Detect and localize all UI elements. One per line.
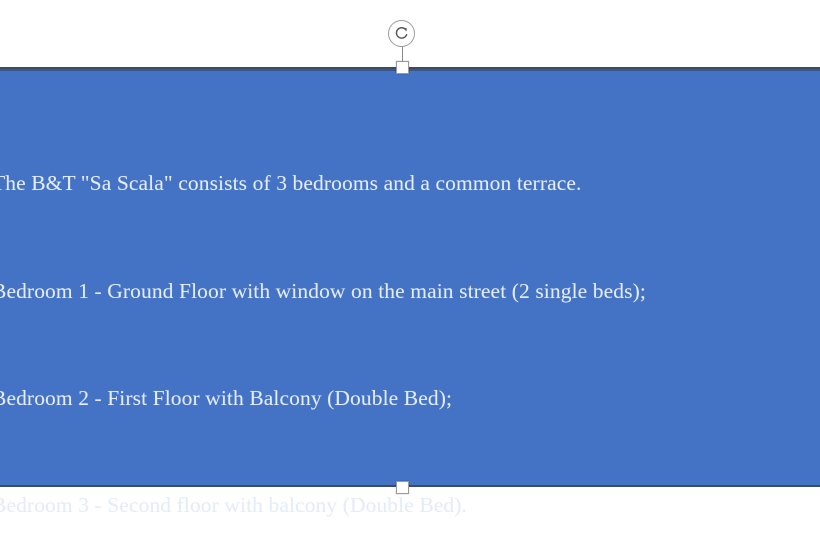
resize-handle-bottom-center[interactable] [396,481,409,494]
text-line: Bedroom 1 - Ground Floor with window on … [0,278,820,304]
text-box-body[interactable]: The B&T "Sa Scala" consists of 3 bedroom… [0,69,820,485]
rotate-icon[interactable] [388,20,415,47]
text-line: The B&T "Sa Scala" consists of 3 bedroom… [0,170,820,196]
resize-handle-top-center[interactable] [396,61,409,74]
text-line: Bedroom 3 - Second floor with balcony (D… [0,492,820,518]
text-line: Bedroom 2 - First Floor with Balcony (Do… [0,385,820,411]
selected-text-box-shape[interactable]: The B&T "Sa Scala" consists of 3 bedroom… [0,67,820,487]
slide-canvas[interactable]: The B&T "Sa Scala" consists of 3 bedroom… [0,0,820,560]
